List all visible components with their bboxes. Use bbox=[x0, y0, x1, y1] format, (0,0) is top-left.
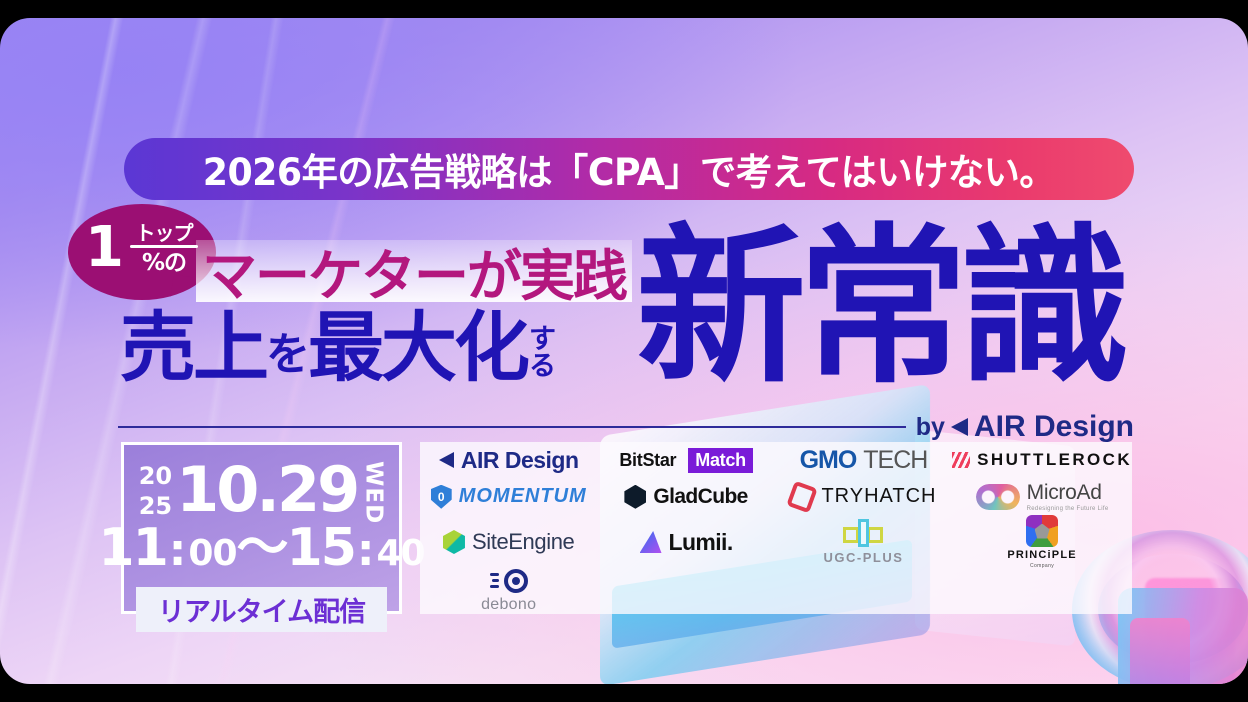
badge-divider bbox=[130, 245, 198, 248]
logo-lumii-label: Lumii. bbox=[669, 529, 733, 556]
ugc-plus-mark-icon bbox=[843, 519, 883, 547]
siteengine-mark-icon bbox=[443, 530, 465, 554]
top-one-percent-badge: 1 トップ %の bbox=[68, 204, 216, 300]
logo-debono-label: debono bbox=[481, 596, 536, 614]
logo-microad-label: MicroAd bbox=[1027, 481, 1102, 505]
headline-line-2: 売上 を 最大化 す る bbox=[120, 310, 558, 386]
time-start-min: 00 bbox=[188, 527, 236, 581]
tryhatch-hex-icon bbox=[787, 480, 818, 513]
logo-debono: debono bbox=[481, 569, 536, 614]
byline-rule bbox=[118, 426, 906, 428]
sponsor-logo-grid: AIR Design BitStar Match GMO TECH SHUTTL… bbox=[420, 442, 1132, 614]
microad-text-wrap: MicroAd Redesigning the Future Life bbox=[1027, 481, 1109, 512]
logo-gmo-label: GMO bbox=[800, 446, 857, 475]
headline-line-1: マーケターが実践 bbox=[196, 240, 632, 302]
badge-bottom-label: %の bbox=[126, 250, 202, 276]
time-start-colon: : bbox=[169, 524, 187, 578]
logo-principle-label: PRINCiPLE bbox=[1007, 549, 1076, 561]
gladcube-cube-icon bbox=[624, 485, 646, 509]
banner-card: 2026年の広告戦略は「CPA」で考えてはいけない。 1 トップ %の マーケタ… bbox=[0, 18, 1248, 684]
air-design-arrow-icon bbox=[951, 418, 968, 436]
badge-text-stack: トップ %の bbox=[126, 222, 202, 276]
logo-air-design: AIR Design bbox=[439, 447, 579, 474]
momentum-shield-letter: 0 bbox=[438, 490, 445, 504]
byline-by: by bbox=[916, 413, 945, 442]
momentum-shield-icon: 0 bbox=[431, 485, 452, 509]
headline-line-1-text: マーケターが実践 bbox=[202, 231, 626, 311]
time-end-hour: 15 bbox=[287, 521, 355, 575]
time-end-min: 40 bbox=[377, 527, 425, 581]
headline-giant-kanji: 新常識 bbox=[636, 222, 1122, 392]
logo-gladcube: GladCube bbox=[624, 485, 747, 509]
debono-mark-icon bbox=[490, 569, 528, 593]
time-range-sep: 〜 bbox=[237, 521, 287, 575]
time-row: 11 : 00 〜 15 : 40 bbox=[136, 521, 387, 581]
logo-principle: PRINCiPLE Company bbox=[1007, 515, 1076, 569]
logo-momentum: 0 MOMENTUM bbox=[431, 485, 587, 509]
glass-tube-shape bbox=[1130, 618, 1190, 684]
date-row: 20 25 10.29 WED bbox=[136, 455, 387, 525]
byline-text: by AIR Design bbox=[916, 410, 1134, 444]
air-design-arrow-icon bbox=[439, 452, 454, 468]
logo-ugc-plus: UGC-PLUS bbox=[824, 519, 904, 565]
headline-pill: 2026年の広告戦略は「CPA」で考えてはいけない。 bbox=[124, 138, 1134, 200]
date-month-day: 10.29 bbox=[176, 455, 357, 525]
date-year-top: 20 bbox=[139, 461, 172, 491]
date-year-bottom: 25 bbox=[139, 491, 172, 521]
logo-gladcube-label: GladCube bbox=[653, 485, 747, 509]
logo-bitstar-label: BitStar bbox=[619, 450, 676, 471]
shuttlerock-mark-icon bbox=[952, 452, 970, 468]
time-end-colon: : bbox=[357, 524, 375, 578]
lumii-mark-icon bbox=[640, 531, 662, 553]
headline-saidaika: 最大化 bbox=[308, 310, 527, 386]
logo-tryhatch-label: TRYHATCH bbox=[821, 485, 936, 508]
headline-uriage: 売上 bbox=[120, 310, 266, 386]
glass-cylinder-shape bbox=[1118, 588, 1248, 684]
headline-suru-bottom: る bbox=[529, 353, 556, 380]
time-start-hour: 11 bbox=[98, 521, 166, 575]
headline-suru: す る bbox=[529, 326, 556, 380]
date-panel: 20 25 10.29 WED 11 : 00 〜 15 : 40 リアルタイム… bbox=[121, 442, 402, 614]
logo-match-badge: Match bbox=[688, 448, 753, 473]
microad-infinity-icon bbox=[976, 484, 1020, 510]
live-stream-label: リアルタイム配信 bbox=[158, 597, 365, 628]
logo-ugc-plus-label: UGC-PLUS bbox=[824, 550, 904, 565]
principle-pentagon-icon bbox=[1026, 515, 1058, 547]
live-stream-badge: リアルタイム配信 bbox=[136, 587, 387, 632]
logo-siteengine-label: SiteEngine bbox=[472, 529, 574, 555]
logo-siteengine: SiteEngine bbox=[443, 529, 574, 555]
badge-number: 1 bbox=[85, 220, 124, 276]
pink-blur-shape bbox=[1145, 578, 1235, 684]
logo-microad: MicroAd Redesigning the Future Life bbox=[976, 481, 1109, 512]
byline-brand: AIR Design bbox=[974, 410, 1134, 444]
logo-shuttlerock-label: SHUTTLEROCK bbox=[977, 450, 1132, 470]
logo-principle-sub: Company bbox=[1030, 563, 1054, 569]
badge-tail bbox=[171, 275, 194, 300]
badge-top-label: トップ bbox=[126, 222, 202, 244]
logo-tryhatch: TRYHATCH bbox=[790, 484, 936, 510]
date-year: 20 25 bbox=[139, 455, 172, 521]
logo-shuttlerock: SHUTTLEROCK bbox=[952, 450, 1132, 470]
headline-pill-text: 2026年の広告戦略は「CPA」で考えてはいけない。 bbox=[203, 142, 1056, 196]
date-weekday: WED bbox=[361, 461, 384, 524]
headline-wo: を bbox=[266, 324, 308, 386]
logo-tech-label: TECH bbox=[863, 446, 927, 475]
logo-momentum-label: MOMENTUM bbox=[459, 485, 587, 508]
logo-microad-tagline: Redesigning the Future Life bbox=[1027, 506, 1109, 512]
byline: by AIR Design bbox=[118, 410, 1134, 444]
headline-suru-top: す bbox=[529, 326, 556, 353]
logo-bitstar-match: BitStar Match bbox=[619, 448, 752, 473]
seminar-banner-stage: 2026年の広告戦略は「CPA」で考えてはいけない。 1 トップ %の マーケタ… bbox=[0, 0, 1248, 702]
logo-air-design-label: AIR Design bbox=[461, 447, 579, 474]
logo-gmo-tech: GMO TECH bbox=[800, 446, 928, 475]
logo-lumii: Lumii. bbox=[640, 529, 733, 556]
